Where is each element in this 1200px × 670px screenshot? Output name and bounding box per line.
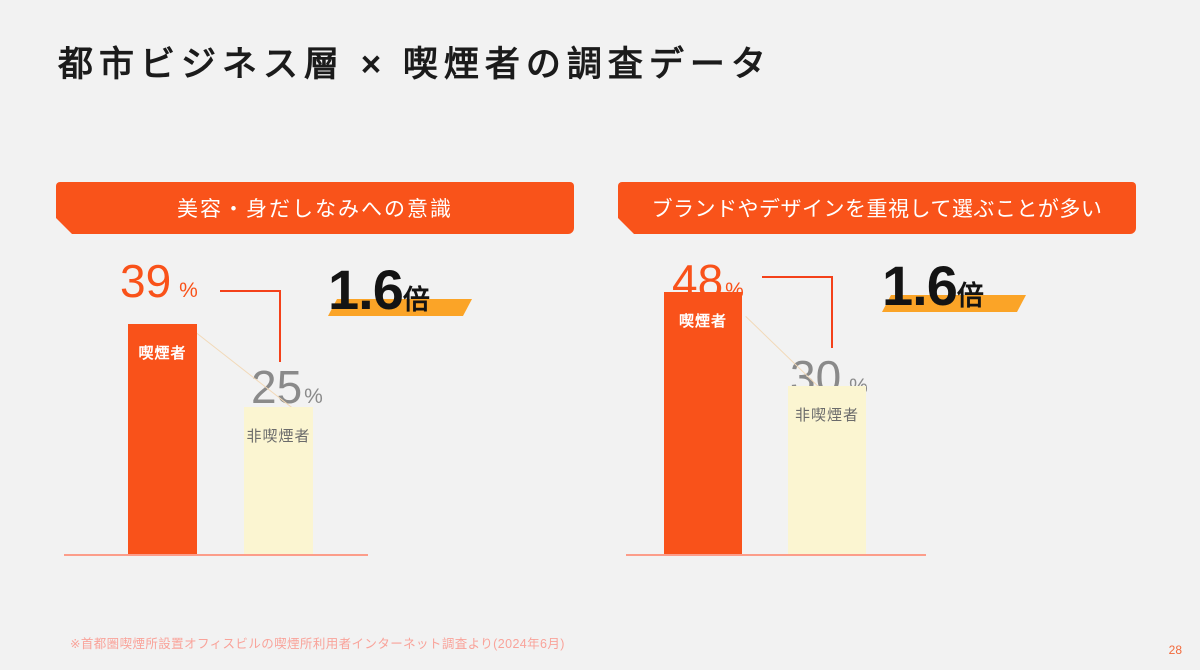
bar-nonsmoker: 非喫煙者 [244, 407, 313, 554]
chart-panel-beauty: 美容・身だしなみへの意識 39% 25% 喫煙者 非喫煙者 [56, 182, 574, 582]
bracket-horizontal [762, 276, 832, 278]
chart-baseline [626, 554, 926, 556]
bracket-horizontal [220, 290, 280, 292]
slide-canvas: 都市ビジネス層 × 喫煙者の調査データ 美容・身だしなみへの意識 39% 25% [0, 0, 1200, 670]
footnote-source: ※首都圏喫煙所設置オフィスビルの喫煙所利用者インターネット調査より(2024年6… [70, 633, 565, 652]
value-unit-nonsmoker: % [304, 385, 323, 408]
value-label-smoker: 39% [120, 258, 198, 304]
bracket-vertical [831, 276, 833, 348]
bracket-vertical [279, 290, 281, 362]
callout-suffix: 倍 [403, 285, 430, 315]
bar-label-nonsmoker: 非喫煙者 [244, 425, 313, 446]
value-unit-smoker: % [179, 279, 198, 302]
page-number: 28 [1169, 643, 1182, 657]
bar-label-nonsmoker: 非喫煙者 [788, 404, 866, 425]
callout-suffix: 倍 [957, 281, 984, 311]
panel-header-brand: ブランドやデザインを重視して選ぶことが多い [618, 182, 1136, 234]
page-title: 都市ビジネス層 × 喫煙者の調査データ [58, 36, 772, 87]
panel-header-beauty: 美容・身だしなみへの意識 [56, 182, 574, 234]
value-number-smoker: 39 [120, 255, 171, 307]
value-number-nonsmoker: 25 [251, 361, 302, 413]
bar-chart-beauty: 39% 25% 喫煙者 非喫煙者 [56, 244, 574, 574]
chart-panel-brand: ブランドやデザインを重視して選ぶことが多い 48% 30% 喫煙者 非喫煙者 [618, 182, 1136, 582]
callout-number: 1.6 [328, 258, 403, 321]
bar-label-smoker: 喫煙者 [128, 342, 197, 363]
bar-label-smoker: 喫煙者 [664, 310, 742, 331]
callout-number: 1.6 [882, 254, 957, 317]
chart-baseline [64, 554, 368, 556]
bar-smoker: 喫煙者 [128, 324, 197, 554]
multiplier-callout: 1.6倍 [882, 258, 984, 314]
bar-smoker: 喫煙者 [664, 292, 742, 554]
callout-text: 1.6倍 [328, 262, 430, 318]
bar-chart-brand: 48% 30% 喫煙者 非喫煙者 1.6倍 [618, 244, 1136, 574]
multiplier-callout: 1.6倍 [328, 262, 430, 318]
callout-text: 1.6倍 [882, 258, 984, 314]
panel-header-label: ブランドやデザインを重視して選ぶことが多い [652, 193, 1103, 223]
bar-nonsmoker: 非喫煙者 [788, 386, 866, 554]
panel-header-label: 美容・身だしなみへの意識 [177, 193, 453, 223]
